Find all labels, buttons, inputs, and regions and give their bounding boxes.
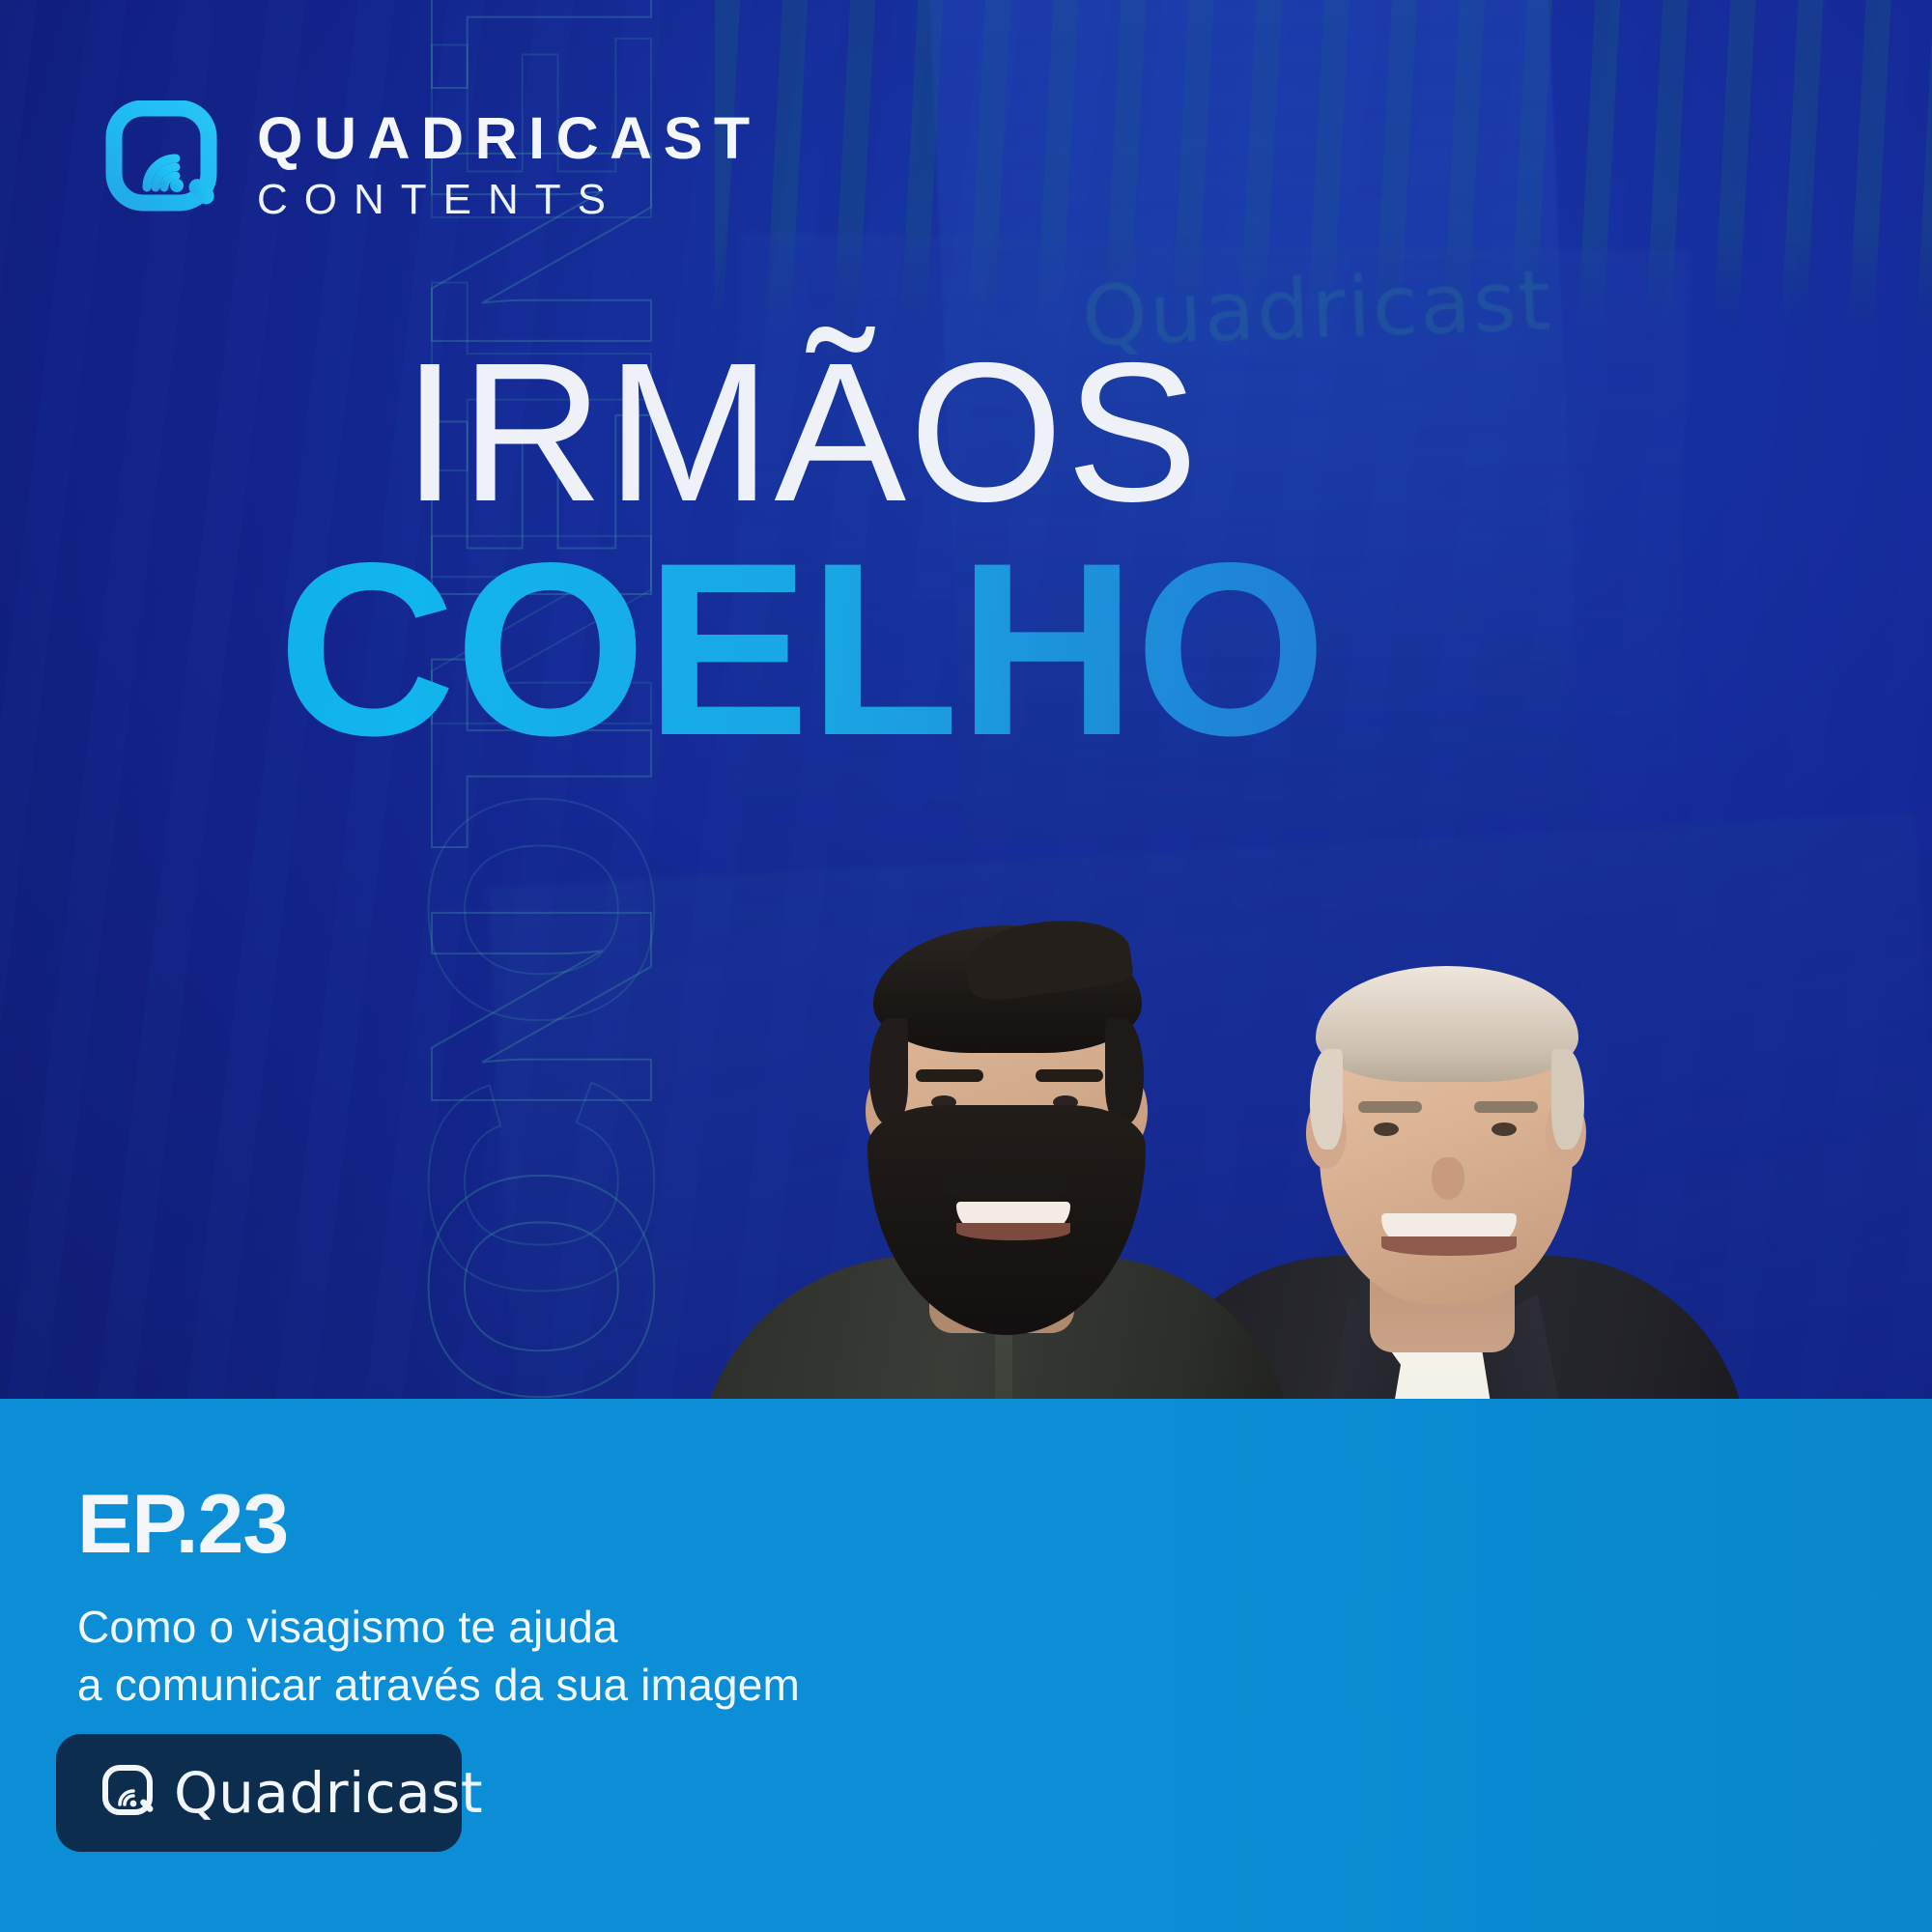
host-right-sideburn xyxy=(1551,1049,1584,1150)
podcast-cover: Quadricast CONTENTS CONTENTS xyxy=(0,0,1932,1932)
title-line-coelho: COELHO xyxy=(0,532,1604,769)
quadricast-q-signal-icon xyxy=(100,1764,156,1822)
footer-brand-wordmark: Quadricast xyxy=(174,1760,483,1826)
host-left-sideburn xyxy=(869,1018,908,1124)
host-left-brow xyxy=(916,1069,983,1082)
host-left-sideburn xyxy=(1105,1018,1144,1124)
host-right-brow xyxy=(1358,1101,1422,1113)
host-right-brow xyxy=(1474,1101,1538,1113)
host-right-nose xyxy=(1432,1157,1464,1200)
host-left-lower-lip xyxy=(956,1223,1070,1240)
brand-line-quadricast: QUADRICAST xyxy=(257,109,761,168)
title-line-irmaos: IRMÃOS xyxy=(0,340,1604,526)
episode-number: EP.23 xyxy=(77,1483,288,1566)
episode-title-block: IRMÃOS COELHO xyxy=(0,340,1604,768)
host-right-eye xyxy=(1374,1122,1399,1136)
brand-line-contents: CONTENTS xyxy=(257,179,761,221)
quadricast-q-signal-icon xyxy=(104,100,224,224)
footer-brand-badge[interactable]: Quadricast xyxy=(56,1734,462,1852)
episode-subtitle-line-2: a comunicar através da sua imagem xyxy=(77,1657,800,1715)
host-right-eye xyxy=(1492,1122,1517,1136)
host-right-hair xyxy=(1316,966,1578,1082)
host-left-brow xyxy=(1036,1069,1103,1082)
host-left-moustache xyxy=(945,1167,1068,1200)
brand-lockup: QUADRICAST CONTENTS xyxy=(104,100,761,224)
brand-wordmark: QUADRICAST CONTENTS xyxy=(257,103,761,221)
episode-subtitle-line-1: Como o visagismo te ajuda xyxy=(77,1599,800,1657)
host-right-lower-lip xyxy=(1381,1236,1517,1256)
episode-subtitle: Como o visagismo te ajuda a comunicar at… xyxy=(77,1599,800,1715)
